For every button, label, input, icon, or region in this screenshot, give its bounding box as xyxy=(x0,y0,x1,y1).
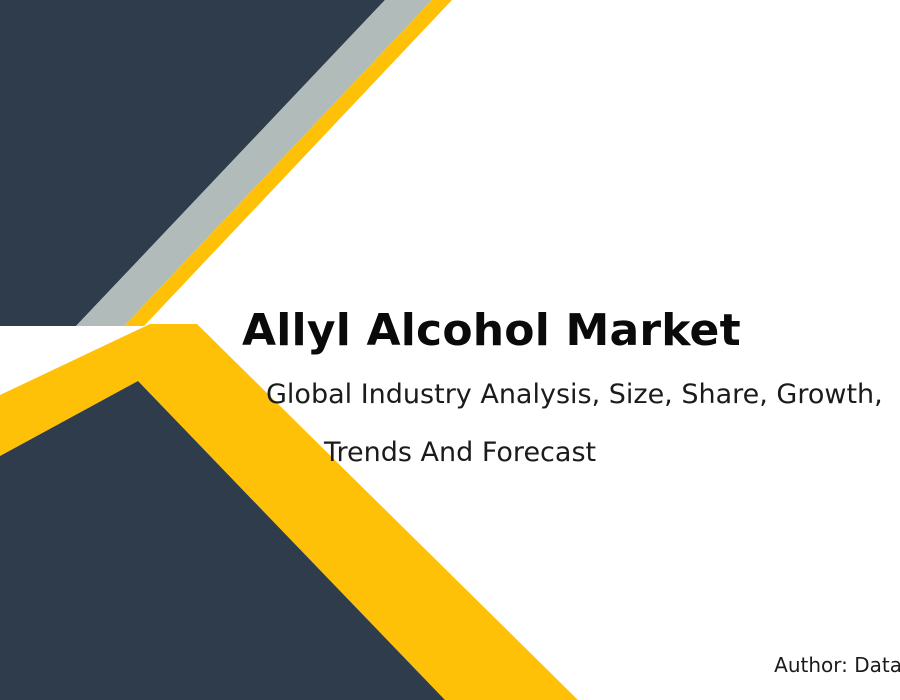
page-subtitle: Global Industry Analysis, Size, Share, G… xyxy=(266,366,896,482)
text-layer: Allyl Alcohol Market Global Industry Ana… xyxy=(0,0,900,700)
page-title: Allyl Alcohol Market xyxy=(242,305,741,357)
subtitle-line-2: Trends And Forecast xyxy=(266,424,896,482)
report-cover: Allyl Alcohol Market Global Industry Ana… xyxy=(0,0,900,700)
author-label: Author: Data xyxy=(620,652,900,678)
subtitle-line-1: Global Industry Analysis, Size, Share, G… xyxy=(266,366,896,424)
